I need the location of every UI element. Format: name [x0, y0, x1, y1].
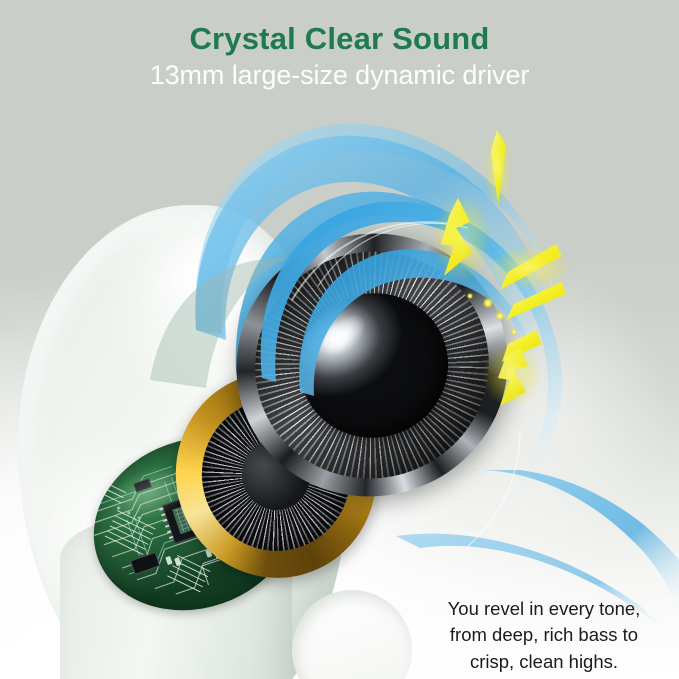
product-feature-graphic: Crystal Clear Sound 13mm large-size dyna… — [0, 0, 679, 679]
product-illustration — [0, 0, 679, 679]
caption-line-2: from deep, rich bass to — [418, 622, 670, 648]
feature-caption: You revel in every tone, from deep, rich… — [418, 596, 670, 675]
page-title: Crystal Clear Sound — [0, 22, 679, 56]
caption-line-1: You revel in every tone, — [418, 596, 670, 622]
blue-sound-wave-rings-front — [0, 0, 679, 679]
caption-line-3: crisp, clean highs. — [418, 649, 670, 675]
page-subtitle: 13mm large-size dynamic driver — [0, 60, 679, 91]
